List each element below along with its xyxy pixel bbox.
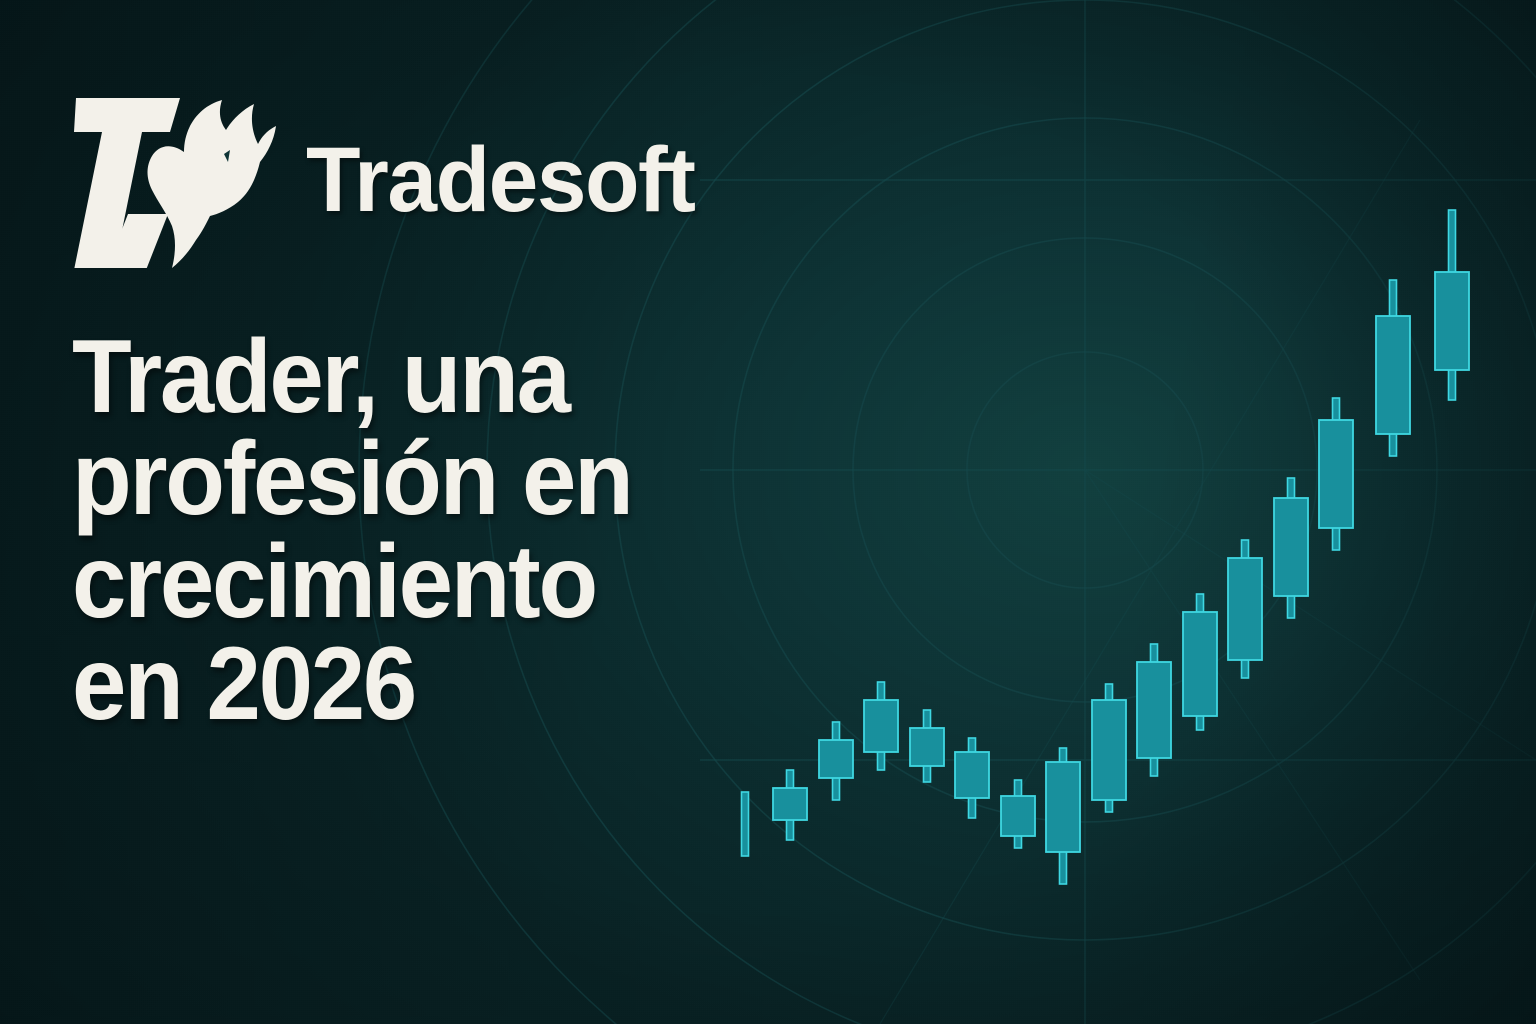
candlestick	[1274, 478, 1308, 618]
candlestick	[864, 682, 898, 770]
poster-canvas: Tradesoft Trader, una profesión en creci…	[0, 0, 1536, 1024]
candlestick	[1001, 780, 1035, 848]
bull-head-t-monogram-icon	[72, 92, 284, 268]
candlestick	[1435, 210, 1469, 400]
candle-body	[1046, 762, 1080, 852]
brand-name: Tradesoft	[306, 134, 695, 226]
candle-body	[1319, 420, 1353, 528]
candle-series	[742, 210, 1470, 884]
candlestick	[1092, 684, 1126, 812]
candlestick	[1137, 644, 1171, 776]
candlestick	[1046, 748, 1080, 884]
candle-body	[1183, 612, 1217, 716]
candlestick	[1319, 398, 1353, 550]
candlestick	[819, 722, 853, 800]
candle-body	[1228, 558, 1262, 660]
candle-body	[1137, 662, 1171, 758]
candle-body	[1001, 796, 1035, 836]
candlestick	[742, 792, 749, 856]
candle-body	[910, 728, 944, 766]
candle-wick	[742, 792, 749, 856]
candle-body	[1376, 316, 1410, 434]
candle-body	[1274, 498, 1308, 596]
candlestick	[910, 710, 944, 782]
candlestick	[1228, 540, 1262, 678]
page-title: Trader, una profesión en crecimiento en …	[72, 326, 711, 736]
candle-body	[773, 788, 807, 820]
candle-body	[1092, 700, 1126, 800]
candle-body	[955, 752, 989, 798]
candlestick	[1183, 594, 1217, 730]
content-column: Tradesoft Trader, una profesión en creci…	[72, 92, 752, 736]
candlestick	[1376, 280, 1410, 456]
candle-body	[1435, 272, 1469, 370]
candle-body	[819, 740, 853, 778]
candle-body	[864, 700, 898, 752]
candlestick	[773, 770, 807, 840]
brand-lockup: Tradesoft	[72, 92, 752, 268]
candlestick	[955, 738, 989, 818]
